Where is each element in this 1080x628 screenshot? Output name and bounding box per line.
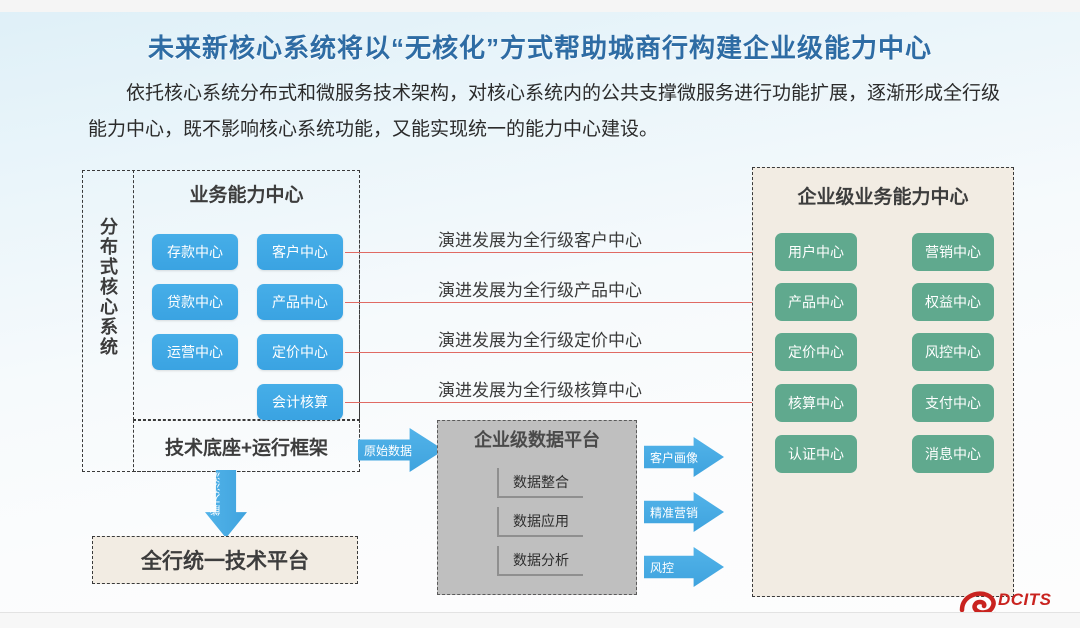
raw-data-arrow: 原始数据 [358,428,444,472]
data-platform-item-integration[interactable]: 数据整合 [497,468,583,498]
ent-box-pricing[interactable]: 定价中心 [775,333,857,371]
ent-box-authentication[interactable]: 认证中心 [775,435,857,473]
core-box-loan[interactable]: 贷款中心 [152,284,238,320]
business-capability-center-title: 业务能力中心 [133,180,360,207]
evolution-label-3: 演进发展为全行级定价中心 [438,326,642,351]
ent-box-marketing[interactable]: 营销中心 [912,233,994,271]
core-box-deposit[interactable]: 存款中心 [152,234,238,270]
ent-box-rights[interactable]: 权益中心 [912,283,994,321]
ent-box-message[interactable]: 消息中心 [912,435,994,473]
evolution-label-4: 演进发展为全行级核算中心 [438,376,642,401]
ent-box-payment[interactable]: 支付中心 [912,384,994,422]
dcits-logo: DCITS 神州信息 [958,590,1076,612]
enterprise-capability-title: 企业级业务能力中心 [752,182,1014,209]
core-box-pricing[interactable]: 定价中心 [257,334,343,370]
enterprise-capability-panel [752,167,1014,597]
slide-canvas: 未来新核心系统将以“无核化”方式帮助城商行构建企业级能力中心 依托核心系统分布式… [0,12,1080,612]
output-arrow-precision-marketing: 精准营销 [644,492,724,532]
output-arrow-risk-control: 风控 [644,547,724,587]
output-arrow-label-2: 精准营销 [650,504,698,521]
ent-box-accounting[interactable]: 核算中心 [775,384,857,422]
distributed-core-system-label: 分布式核心系统 [88,217,120,357]
evolution-line-4 [345,402,769,403]
output-arrow-label-3: 风控 [650,559,674,576]
ent-box-product[interactable]: 产品中心 [775,283,857,321]
core-box-customer[interactable]: 客户中心 [257,234,343,270]
slide-paragraph: 依托核心系统分布式和微服务技术架构，对核心系统内的公共支撑微服务进行功能扩展，逐… [88,76,1000,148]
enterprise-data-platform-title: 企业级数据平台 [437,426,637,452]
evolution-label-2: 演进发展为全行级产品中心 [438,276,642,301]
capability-precipitation-label: 能力沉淀 [210,472,240,516]
core-box-product[interactable]: 产品中心 [257,284,343,320]
evolution-line-3 [345,352,769,353]
bottom-edge-band [0,612,1080,628]
unified-tech-platform-box: 全行统一技术平台 [92,536,358,584]
ent-box-risk-control[interactable]: 风控中心 [912,333,994,371]
evolution-line-2 [345,302,769,303]
evolution-label-1: 演进发展为全行级客户中心 [438,226,642,251]
dcits-swoosh-icon [958,590,998,612]
output-arrow-customer-profile: 客户画像 [644,437,724,477]
tech-base-box: 技术底座+运行框架 [133,420,360,472]
core-box-accounting[interactable]: 会计核算 [257,384,343,420]
evolution-line-1 [345,252,769,253]
top-edge-band [0,0,1080,12]
raw-data-arrow-label: 原始数据 [364,442,412,459]
logo-brand-en: DCITS [998,590,1052,610]
slide-title: 未来新核心系统将以“无核化”方式帮助城商行构建企业级能力中心 [0,28,1080,65]
ent-box-user[interactable]: 用户中心 [775,233,857,271]
data-platform-item-application[interactable]: 数据应用 [497,507,583,537]
core-box-operations[interactable]: 运营中心 [152,334,238,370]
output-arrow-label-1: 客户画像 [650,449,698,466]
data-platform-item-analysis[interactable]: 数据分析 [497,546,583,576]
